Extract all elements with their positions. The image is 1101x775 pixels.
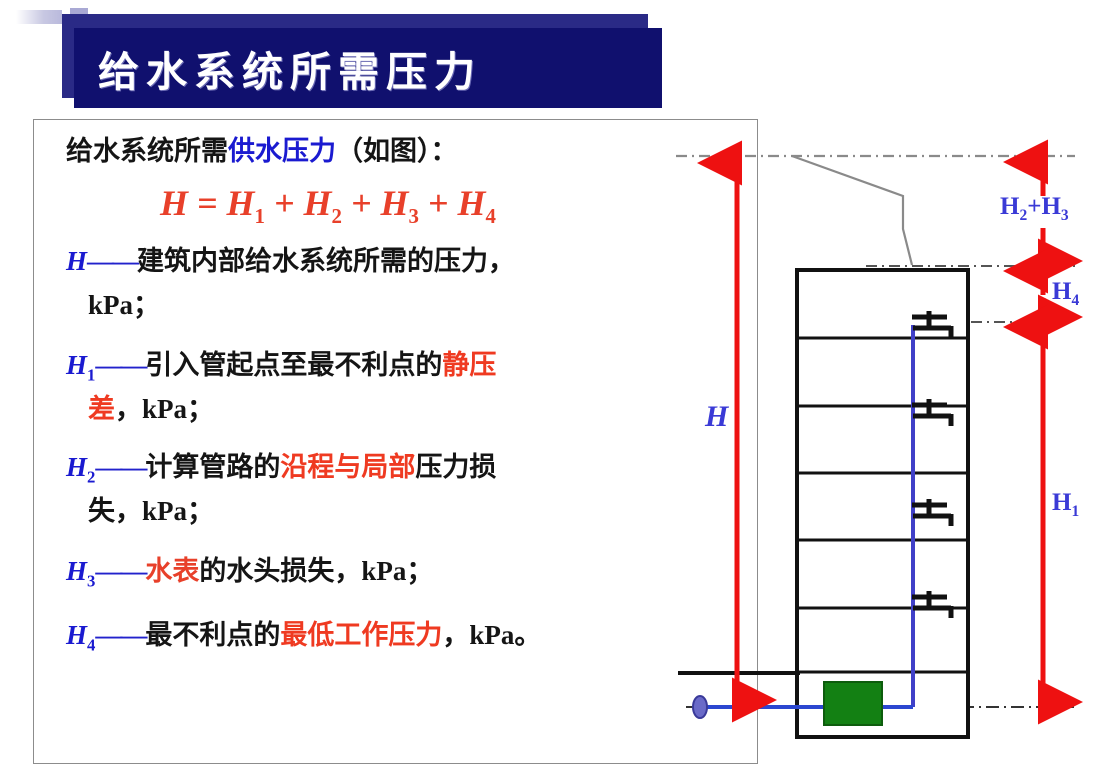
formula-term-4: H4 (457, 183, 495, 223)
definition-h1-line1: H1——引入管起点至最不利点的静压 (66, 350, 496, 385)
building-outline (797, 270, 968, 737)
heading-black-2: （如图）： (336, 136, 458, 166)
hydraulic-grade-line (792, 156, 912, 265)
definition-h4-line: H4——最不利点的最低工作压力，kPa。 (66, 620, 541, 655)
definition-h4-black2: ，kPa。 (442, 620, 541, 650)
dash-h4: —— (95, 620, 145, 652)
label-h4: H4 (1052, 278, 1079, 310)
definition-h1-black2: ，kPa； (115, 394, 214, 424)
definition-h3-red: 水表 (145, 556, 199, 586)
heading-black-1: 给水系统所需 (66, 136, 228, 166)
definition-h3-line: H3——水表的水头损失，kPa； (66, 556, 433, 591)
dash-h2: —— (95, 452, 145, 484)
definition-h2-line2: 失，kPa； (88, 496, 214, 528)
faucet-floor-4 (912, 591, 951, 618)
corner-decoration-bar (16, 10, 62, 24)
definition-h3-black: 的水头损失，kPa； (199, 556, 433, 586)
definition-h1-line2: 差，kPa； (88, 394, 214, 426)
definition-h2-black2: 压力损 (415, 452, 496, 482)
dash-h1: —— (95, 350, 145, 382)
dash-h3: —— (95, 556, 145, 588)
definition-h-text: 建筑内部给水系统所需的压力， (137, 246, 515, 276)
formula-term-1: H1 (227, 183, 265, 223)
definition-h2-black: 计算管路的 (145, 452, 280, 482)
label-h2-h3: H2+H3 (1000, 193, 1069, 225)
heading-blue: 供水压力 (228, 136, 336, 166)
symbol-h3: H3 (66, 556, 95, 586)
definition-h-line2: kPa； (88, 290, 160, 322)
heading-line: 给水系统所需供水压力（如图）： (66, 136, 458, 168)
symbol-h1: H1 (66, 350, 95, 380)
formula-term-2: H2 (304, 183, 342, 223)
label-h-total: H (705, 400, 728, 434)
definition-h1-red2: 差 (88, 394, 115, 424)
faucet-floor-2 (912, 399, 951, 426)
definition-h1-red: 静压 (442, 350, 496, 380)
symbol-h4: H4 (66, 620, 95, 650)
title-banner: 给水系统所需压力 (74, 28, 662, 108)
page-title: 给水系统所需压力 (98, 38, 482, 98)
formula-equals: = (197, 183, 218, 223)
formula-lhs: H (160, 183, 188, 223)
symbol-h2: H2 (66, 452, 95, 482)
main-formula: H = H1 + H2 + H3 + H4 (160, 182, 496, 229)
definition-h2-red: 沿程与局部 (280, 452, 415, 482)
faucet-floor-3 (912, 499, 951, 526)
formula-term-3: H3 (380, 183, 418, 223)
faucet-floor-1 (912, 311, 951, 338)
definition-h4-red: 最低工作压力 (280, 620, 442, 650)
symbol-h: H (66, 246, 87, 276)
definition-h2-line1: H2——计算管路的沿程与局部压力损 (66, 452, 496, 487)
water-meter (824, 682, 882, 725)
definition-h-line1: H——建筑内部给水系统所需的压力， (66, 246, 515, 278)
label-h1: H1 (1052, 489, 1079, 521)
definition-h1-black: 引入管起点至最不利点的 (145, 350, 442, 380)
definition-h4-black: 最不利点的 (145, 620, 280, 650)
dash-h: —— (87, 246, 137, 278)
